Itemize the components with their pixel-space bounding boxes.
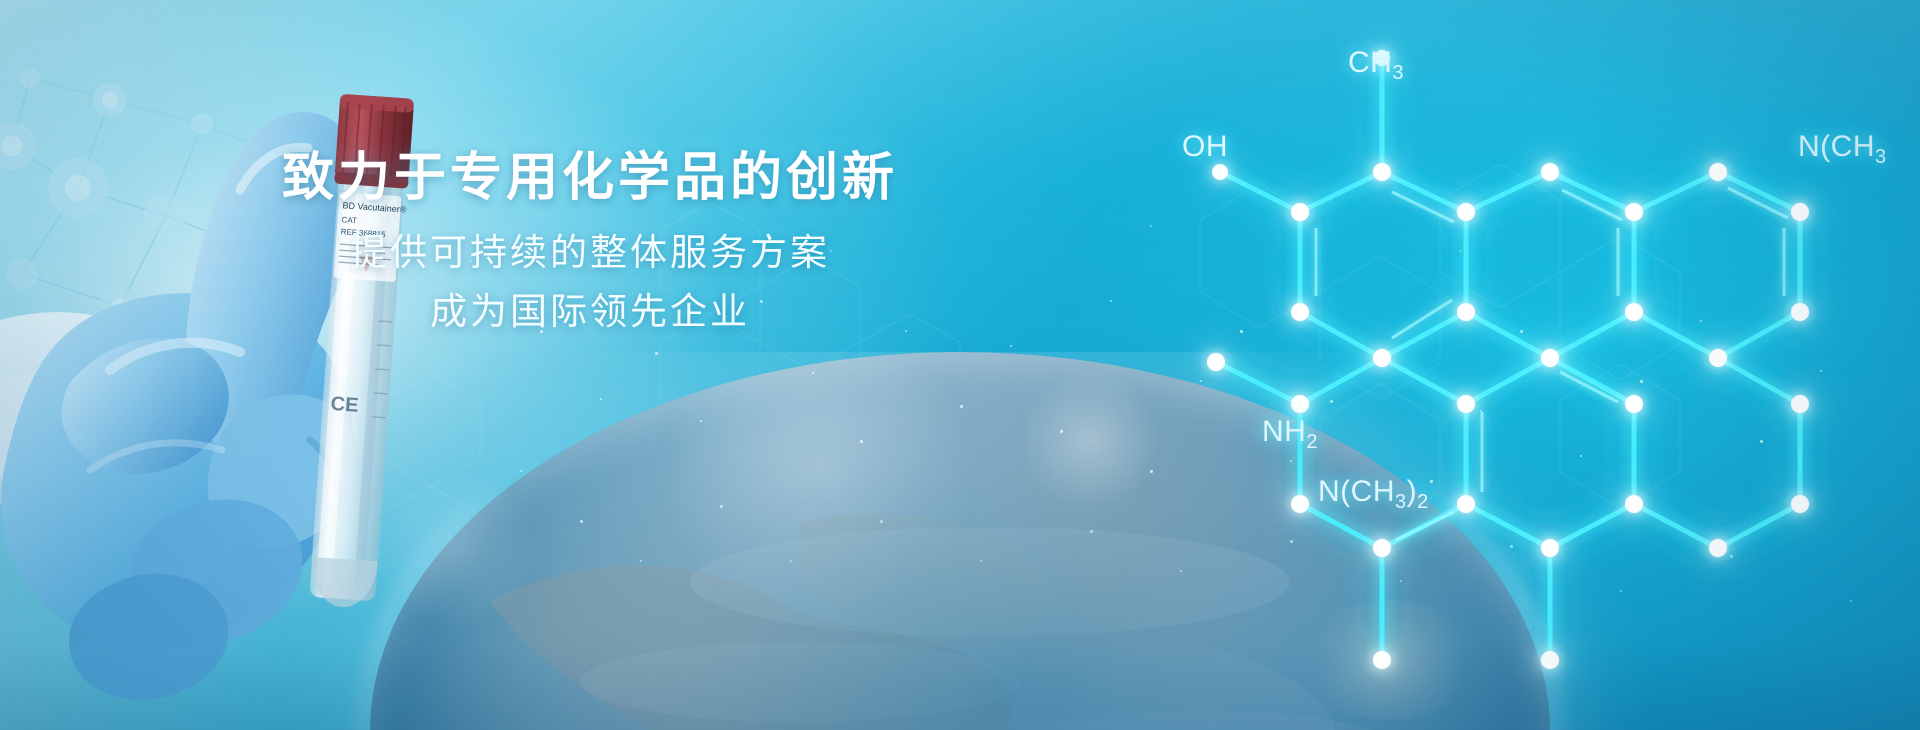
hero-banner: BD Vacutainer® CAT REF 368815 CE [0,0,1920,730]
vignette-overlay [0,0,1920,730]
